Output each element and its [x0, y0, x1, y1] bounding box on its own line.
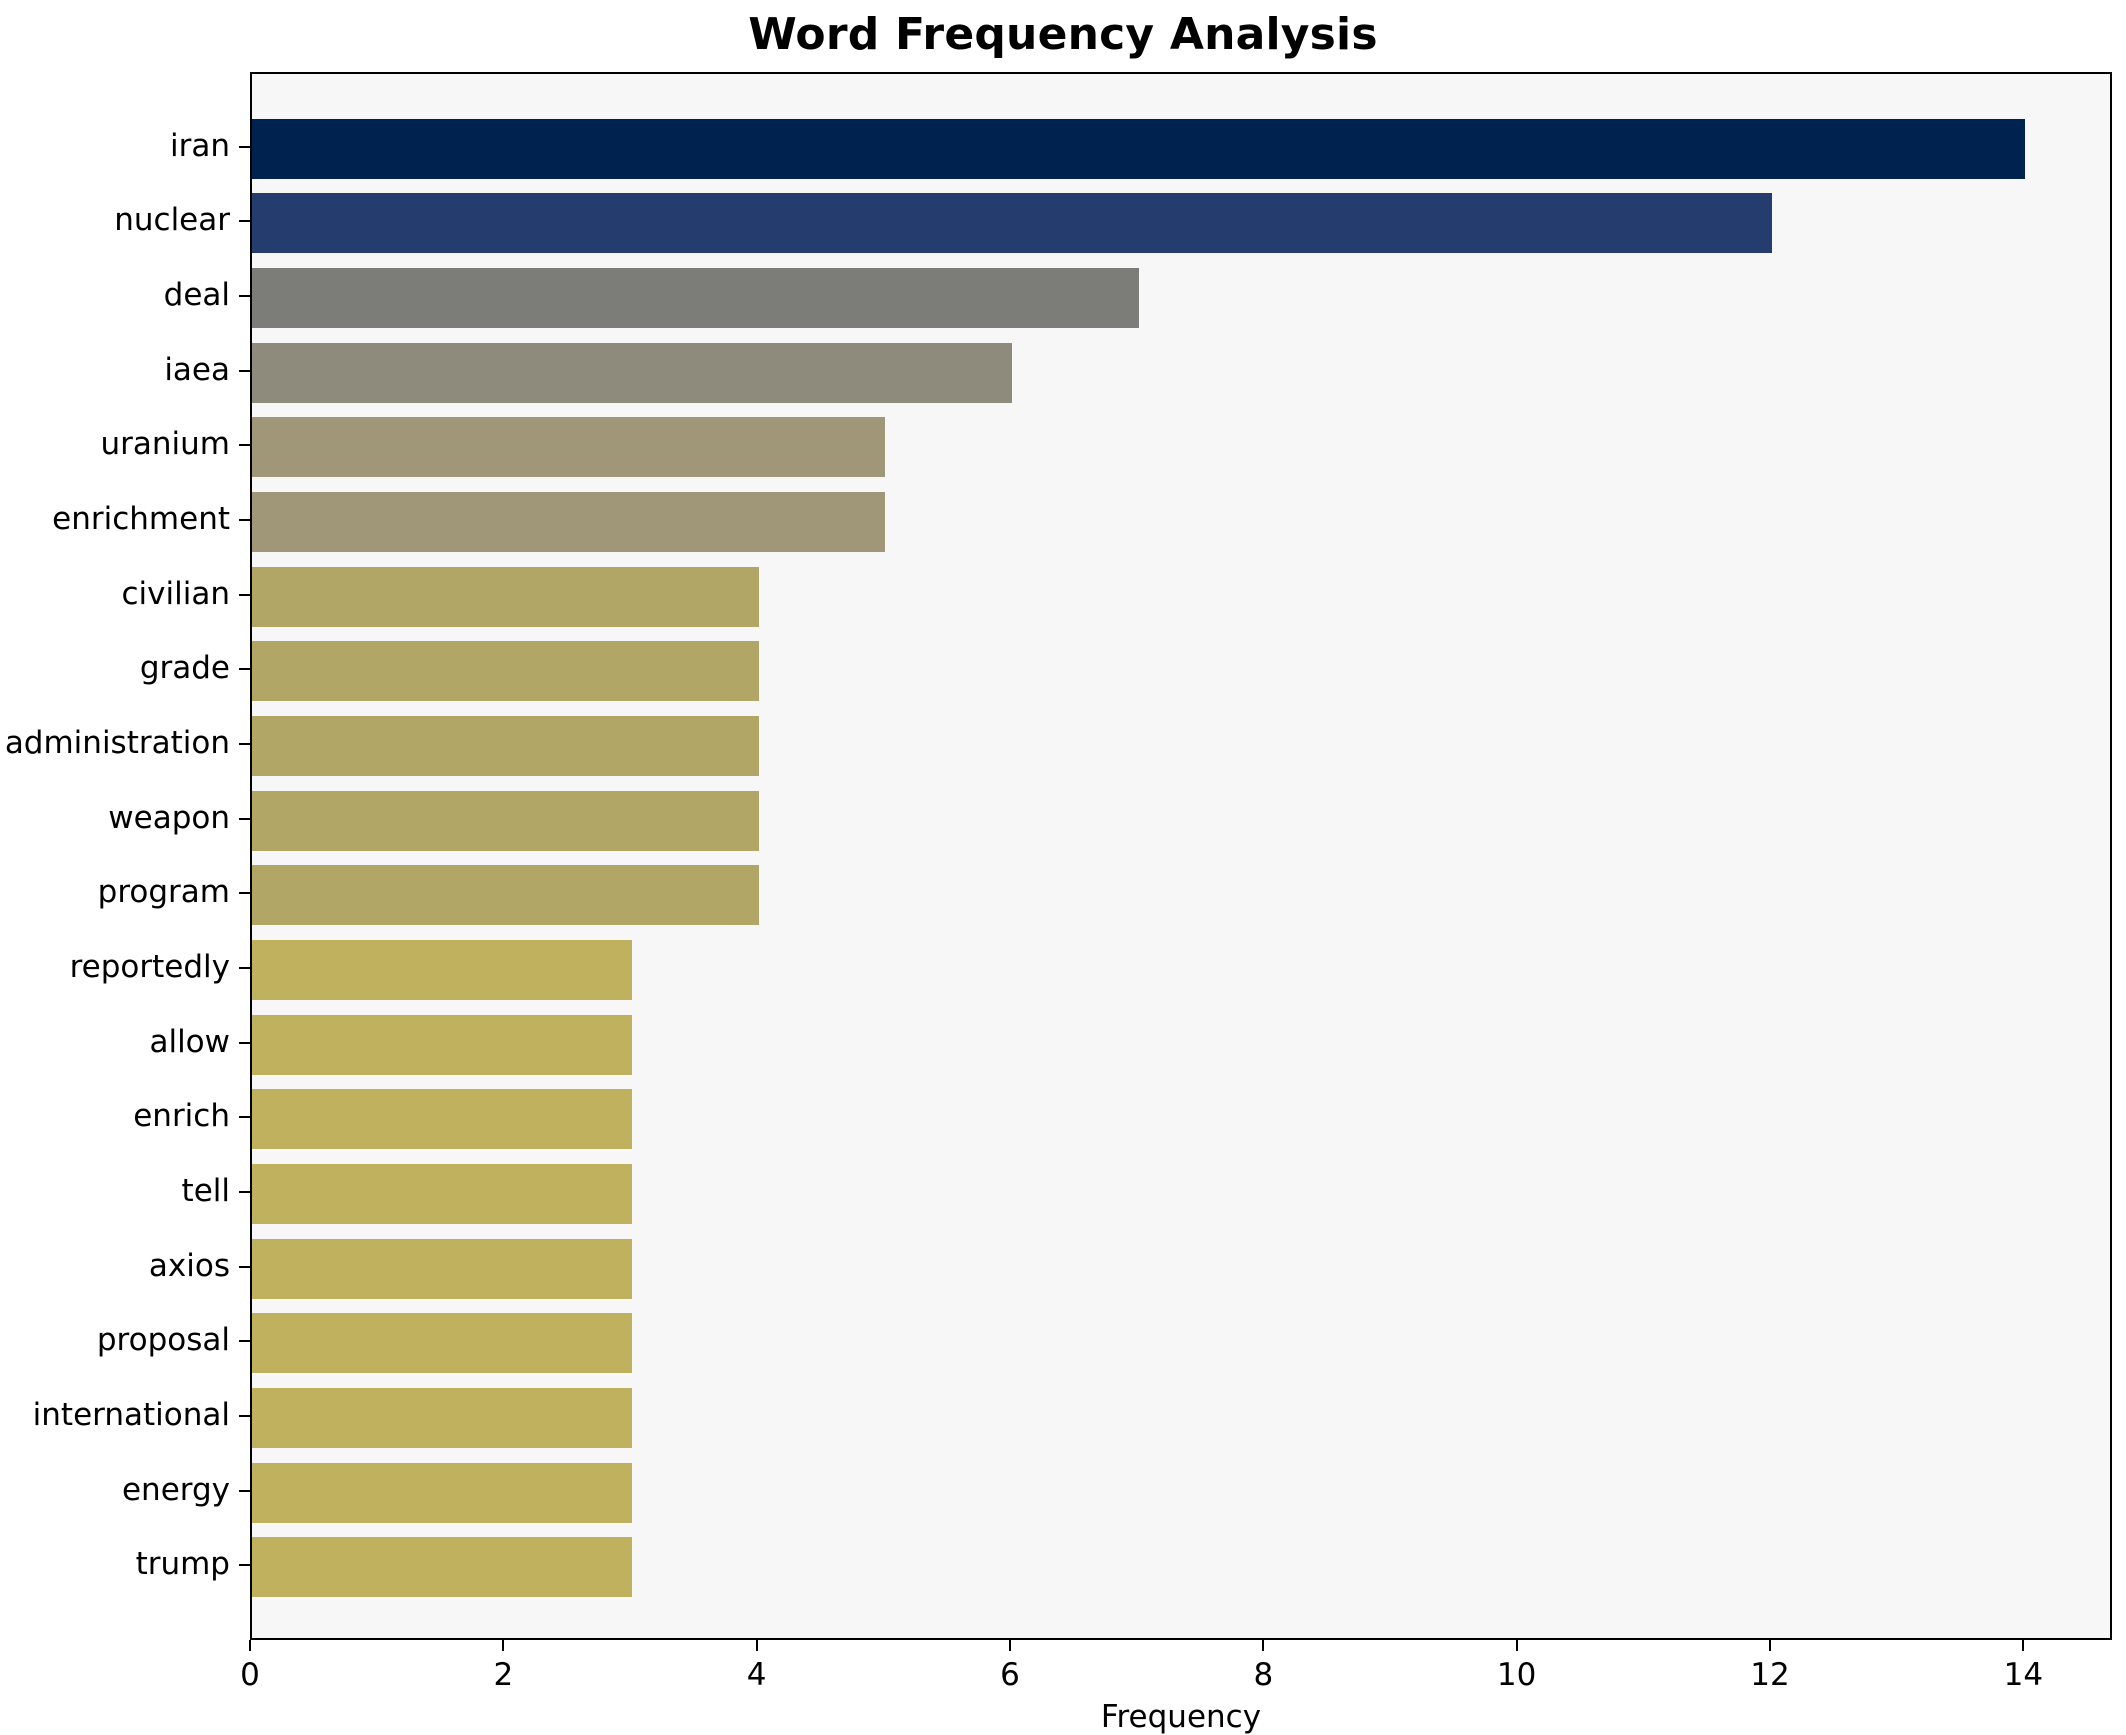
x-tick-label-8: 8 [1253, 1658, 1273, 1692]
x-tick-mark [1516, 1640, 1518, 1651]
y-tick-mark [239, 594, 250, 596]
y-tick-label-allow: allow [0, 1027, 230, 1058]
y-tick-label-civilian: civilian [0, 579, 230, 610]
y-tick-mark [239, 743, 250, 745]
bar-enrichment [252, 492, 885, 552]
bar-uranium [252, 417, 885, 477]
plot-area [252, 74, 2110, 1638]
y-tick-label-enrich: enrich [0, 1101, 230, 1132]
bar-energy [252, 1463, 632, 1523]
bar-fill [252, 1537, 632, 1597]
y-tick-label-weapon: weapon [0, 803, 230, 834]
bar-axios [252, 1239, 632, 1299]
y-tick-label-energy: energy [0, 1475, 230, 1506]
x-tick-mark [1009, 1640, 1011, 1651]
bar-fill [252, 492, 885, 552]
x-tick-label-0: 0 [240, 1658, 260, 1692]
bar-fill [252, 1015, 632, 1075]
x-tick-label-2: 2 [493, 1658, 513, 1692]
y-tick-mark [239, 1266, 250, 1268]
bar-international [252, 1388, 632, 1448]
y-tick-mark [239, 818, 250, 820]
y-tick-mark [239, 519, 250, 521]
y-tick-mark [239, 668, 250, 670]
x-tick-label-10: 10 [1497, 1658, 1536, 1692]
y-tick-label-enrichment: enrichment [0, 504, 230, 535]
bar-administration [252, 716, 759, 776]
bar-fill [252, 193, 1772, 253]
y-tick-label-grade: grade [0, 653, 230, 684]
bar-deal [252, 268, 1139, 328]
bar-nuclear [252, 193, 1772, 253]
x-tick-mark [756, 1640, 758, 1651]
y-tick-mark [239, 1340, 250, 1342]
y-tick-mark [239, 1116, 250, 1118]
x-tick-label-6: 6 [1000, 1658, 1020, 1692]
y-tick-mark [239, 967, 250, 969]
y-tick-mark [239, 1564, 250, 1566]
y-tick-label-nuclear: nuclear [0, 205, 230, 236]
y-tick-label-iaea: iaea [0, 355, 230, 386]
bar-civilian [252, 567, 759, 627]
x-tick-mark [502, 1640, 504, 1651]
bar-iran [252, 119, 2025, 179]
bar-enrich [252, 1089, 632, 1149]
y-tick-label-reportedly: reportedly [0, 952, 230, 983]
y-tick-label-deal: deal [0, 280, 230, 311]
bar-proposal [252, 1313, 632, 1373]
bar-weapon [252, 791, 759, 851]
bar-fill [252, 1089, 632, 1149]
x-tick-mark [1769, 1640, 1771, 1651]
x-axis-label: Frequency [250, 1700, 2112, 1734]
x-tick-mark [249, 1640, 251, 1651]
chart-title: Word Frequency Analysis [0, 8, 2126, 62]
bar-fill [252, 268, 1139, 328]
y-tick-mark [239, 1490, 250, 1492]
bar-fill [252, 119, 2025, 179]
bar-program [252, 865, 759, 925]
bar-fill [252, 1388, 632, 1448]
x-tick-mark [1262, 1640, 1264, 1651]
y-tick-label-iran: iran [0, 131, 230, 162]
bar-fill [252, 716, 759, 776]
y-tick-mark [239, 1191, 250, 1193]
bar-allow [252, 1015, 632, 1075]
y-tick-mark [239, 370, 250, 372]
word-frequency-chart-figure: Word Frequency Analysis irannucleardeali… [0, 0, 2126, 1722]
y-tick-mark [239, 892, 250, 894]
bar-tell [252, 1164, 632, 1224]
bar-iaea [252, 343, 1012, 403]
y-tick-mark [239, 1415, 250, 1417]
x-tick-label-4: 4 [747, 1658, 767, 1692]
y-tick-mark [239, 1042, 250, 1044]
y-tick-mark [239, 295, 250, 297]
y-tick-label-international: international [0, 1400, 230, 1431]
bar-fill [252, 1239, 632, 1299]
bar-fill [252, 940, 632, 1000]
y-tick-label-tell: tell [0, 1176, 230, 1207]
x-tick-label-14: 14 [2004, 1658, 2043, 1692]
bar-fill [252, 343, 1012, 403]
y-tick-label-program: program [0, 877, 230, 908]
y-tick-mark [239, 220, 250, 222]
x-tick-label-12: 12 [1750, 1658, 1789, 1692]
x-tick-mark [2022, 1640, 2024, 1651]
plot-frame [250, 72, 2112, 1640]
bar-fill [252, 1313, 632, 1373]
bar-trump [252, 1537, 632, 1597]
y-tick-mark [239, 146, 250, 148]
bar-fill [252, 791, 759, 851]
y-tick-label-axios: axios [0, 1251, 230, 1282]
y-tick-label-proposal: proposal [0, 1325, 230, 1356]
y-tick-label-administration: administration [0, 728, 230, 759]
bar-fill [252, 641, 759, 701]
y-tick-mark [239, 444, 250, 446]
bar-fill [252, 417, 885, 477]
bar-reportedly [252, 940, 632, 1000]
bar-fill [252, 567, 759, 627]
bar-grade [252, 641, 759, 701]
y-tick-label-uranium: uranium [0, 429, 230, 460]
bar-fill [252, 1164, 632, 1224]
bar-fill [252, 865, 759, 925]
bar-fill [252, 1463, 632, 1523]
y-tick-label-trump: trump [0, 1549, 230, 1580]
